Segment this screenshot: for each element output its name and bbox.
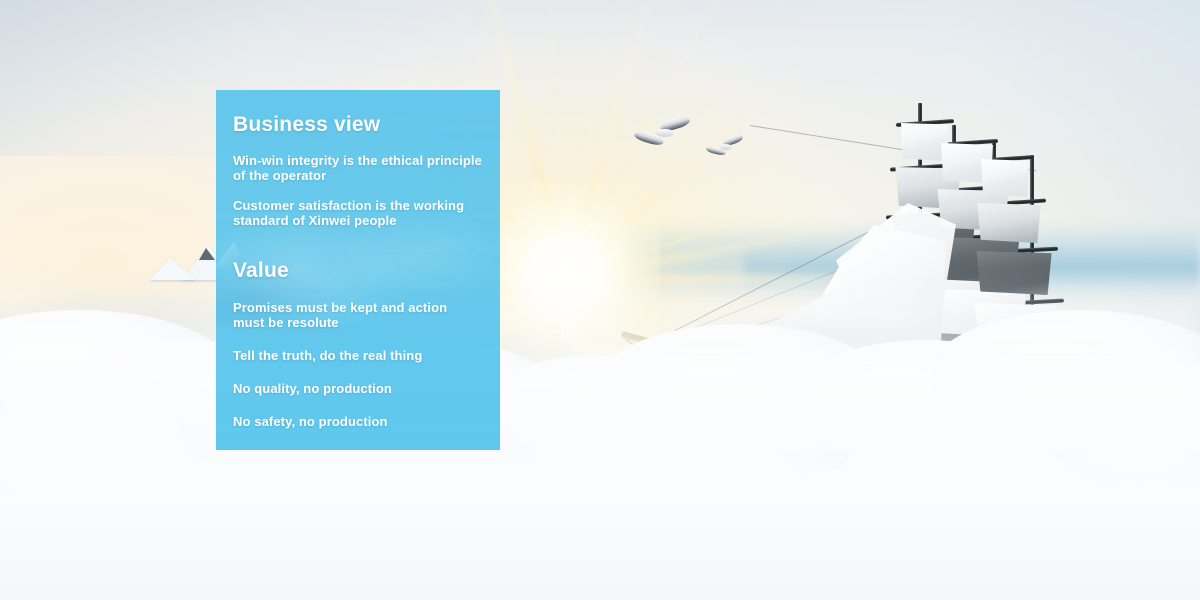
seagull-large bbox=[634, 118, 692, 152]
value-heading: Value bbox=[233, 259, 482, 282]
sail bbox=[976, 203, 1042, 243]
hero-banner: Business view Win-win integrity is the e… bbox=[0, 0, 1200, 600]
seagull-body bbox=[656, 129, 674, 137]
value-item: No safety, no production bbox=[233, 414, 482, 429]
value-item: Tell the truth, do the real thing bbox=[233, 348, 482, 363]
business-view-item: Win-win integrity is the ethical princip… bbox=[233, 153, 482, 183]
culture-panel: Business view Win-win integrity is the e… bbox=[216, 90, 500, 450]
business-view-item: Customer satisfaction is the working sta… bbox=[233, 198, 482, 228]
value-item: Promises must be kept and action must be… bbox=[233, 300, 482, 330]
mountain-rock-face bbox=[199, 248, 215, 260]
ship-cloud-base bbox=[560, 340, 1200, 450]
value-item: No quality, no production bbox=[233, 381, 482, 396]
value-list: Promises must be kept and action must be… bbox=[233, 300, 482, 429]
business-view-list: Win-win integrity is the ethical princip… bbox=[233, 153, 482, 228]
seagull-body bbox=[720, 144, 732, 150]
business-view-heading: Business view bbox=[233, 113, 482, 136]
seagull-small bbox=[706, 136, 744, 160]
sail bbox=[980, 159, 1030, 197]
culture-panel-content: Business view Win-win integrity is the e… bbox=[216, 90, 500, 429]
